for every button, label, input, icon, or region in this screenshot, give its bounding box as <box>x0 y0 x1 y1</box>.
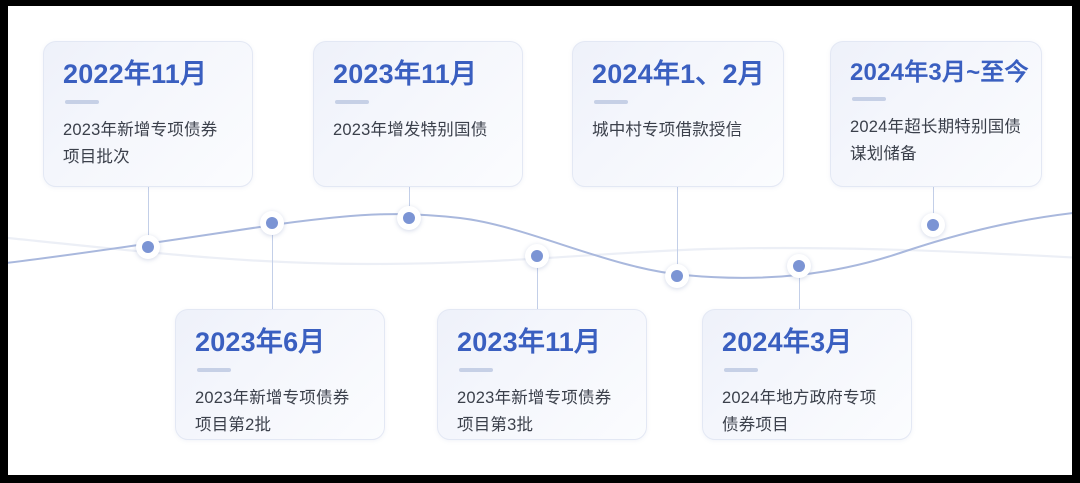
card-description: 2024年地方政府专项债券项目 <box>722 385 892 438</box>
timeline-node-event-2[interactable] <box>260 211 284 235</box>
card-description: 2023年新增专项债券项目第2批 <box>195 385 365 438</box>
card-title: 2023年11月 <box>333 60 503 89</box>
timeline-card-event-2[interactable]: 2023年6月 2023年新增专项债券项目第2批 <box>175 309 385 440</box>
card-divider <box>65 100 99 104</box>
card-description: 2023年新增专项债券项目批次 <box>63 117 233 170</box>
timeline-node-event-6[interactable] <box>787 254 811 278</box>
node-dot-icon <box>927 219 939 231</box>
card-title: 2023年6月 <box>195 328 365 357</box>
card-description: 2024年超长期特别国债谋划储备 <box>850 114 1022 167</box>
card-title: 2022年11月 <box>63 60 233 89</box>
card-divider <box>459 368 493 372</box>
card-divider <box>197 368 231 372</box>
timeline-node-event-4[interactable] <box>525 244 549 268</box>
card-divider <box>335 100 369 104</box>
timeline-node-event-1[interactable] <box>136 235 160 259</box>
timeline-card-event-7[interactable]: 2024年3月~至今 2024年超长期特别国债谋划储备 <box>830 41 1042 187</box>
card-divider <box>724 368 758 372</box>
connector-stem-event-4 <box>537 261 538 311</box>
timeline-card-event-1[interactable]: 2022年11月 2023年新增专项债券项目批次 <box>43 41 253 187</box>
timeline-card-event-6[interactable]: 2024年3月 2024年地方政府专项债券项目 <box>702 309 912 440</box>
card-title: 2024年3月 <box>722 328 892 357</box>
connector-stem-event-5 <box>677 186 678 276</box>
card-description: 城中村专项借款授信 <box>592 117 764 144</box>
node-dot-icon <box>793 260 805 272</box>
node-dot-icon <box>671 270 683 282</box>
infographic-canvas: 2022年11月 2023年新增专项债券项目批次 2023年11月 2023年增… <box>8 6 1072 475</box>
card-title: 2024年1、2月 <box>592 60 764 89</box>
timeline-node-event-5[interactable] <box>665 264 689 288</box>
node-dot-icon <box>531 250 543 262</box>
timeline-card-event-3[interactable]: 2023年11月 2023年增发特别国债 <box>313 41 523 187</box>
node-dot-icon <box>266 217 278 229</box>
connector-stem-event-1 <box>148 186 149 241</box>
card-title: 2023年11月 <box>457 328 627 357</box>
timeline-node-event-7[interactable] <box>921 213 945 237</box>
card-divider <box>594 100 628 104</box>
card-description: 2023年增发特别国债 <box>333 117 503 144</box>
card-title: 2024年3月~至今 <box>850 60 1022 86</box>
timeline-node-event-3[interactable] <box>397 206 421 230</box>
node-dot-icon <box>142 241 154 253</box>
node-dot-icon <box>403 212 415 224</box>
timeline-card-event-4[interactable]: 2023年11月 2023年新增专项债券项目第3批 <box>437 309 647 440</box>
timeline-card-event-5[interactable]: 2024年1、2月 城中村专项借款授信 <box>572 41 784 187</box>
card-description: 2023年新增专项债券项目第3批 <box>457 385 627 438</box>
card-divider <box>852 97 886 101</box>
